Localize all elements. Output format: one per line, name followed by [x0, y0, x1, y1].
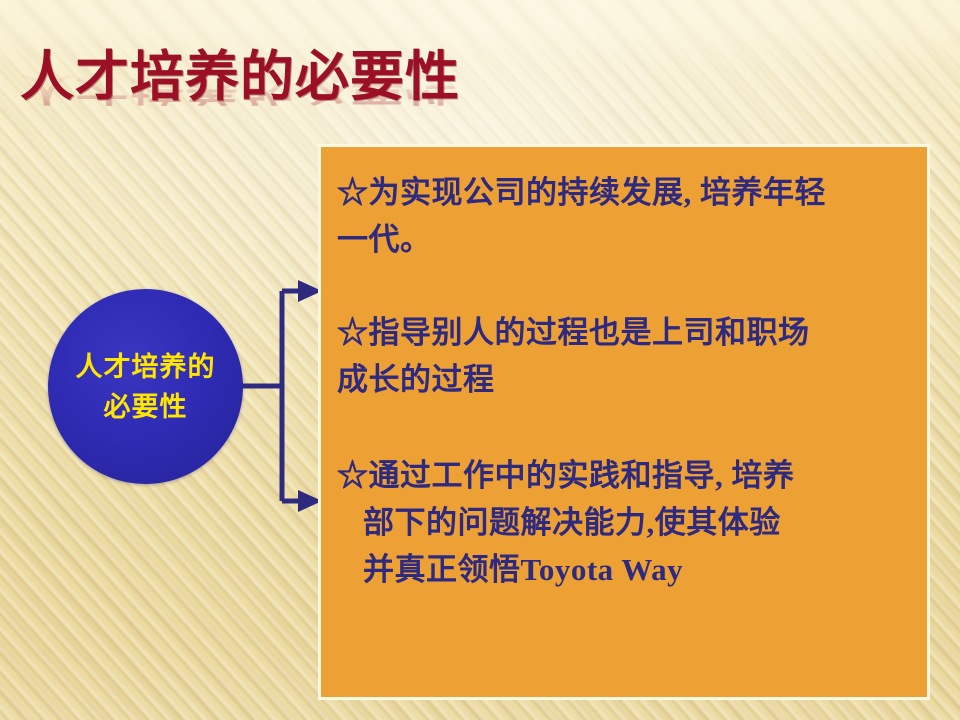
- bullet-item-2: ☆指导别人的过程也是上司和职场 成长的过程: [337, 309, 917, 403]
- bullet-3-line-2: 部下的问题解决能力,使其体验: [337, 499, 917, 546]
- bullet-1-line-2: 一代。: [337, 216, 917, 263]
- diagram-node-circle[interactable]: 人才培养的 必要性: [48, 289, 243, 484]
- bullet-list: ☆为实现公司的持续发展, 培养年轻 一代。 ☆指导别人的过程也是上司和职场 成长…: [337, 169, 917, 593]
- bullet-2-line-1: ☆指导别人的过程也是上司和职场: [337, 309, 917, 356]
- slide-title: 人才培养的必要性: [20, 48, 660, 106]
- circle-label-line-1: 人才培养的: [76, 347, 216, 387]
- bullet-2-line-2: 成长的过程: [337, 356, 917, 403]
- slide-canvas: 人才培养的必要性 人才培养的必要性 人才培养的 必要性 ☆为实现公司的持续发展,…: [0, 0, 960, 720]
- bullet-1-line-1: ☆为实现公司的持续发展, 培养年轻: [337, 169, 917, 216]
- bullet-3-line-1: ☆通过工作中的实践和指导, 培养: [337, 452, 917, 499]
- bullet-item-3: ☆通过工作中的实践和指导, 培养 部下的问题解决能力,使其体验 并真正领悟Toy…: [337, 452, 917, 593]
- bullet-3-line-3: 并真正领悟Toyota Way: [337, 546, 917, 593]
- content-box: ☆为实现公司的持续发展, 培养年轻 一代。 ☆指导别人的过程也是上司和职场 成长…: [318, 144, 930, 700]
- slide-title-block: 人才培养的必要性 人才培养的必要性: [20, 48, 660, 148]
- bullet-item-1: ☆为实现公司的持续发展, 培养年轻 一代。: [337, 169, 917, 263]
- circle-label-line-2: 必要性: [104, 387, 188, 427]
